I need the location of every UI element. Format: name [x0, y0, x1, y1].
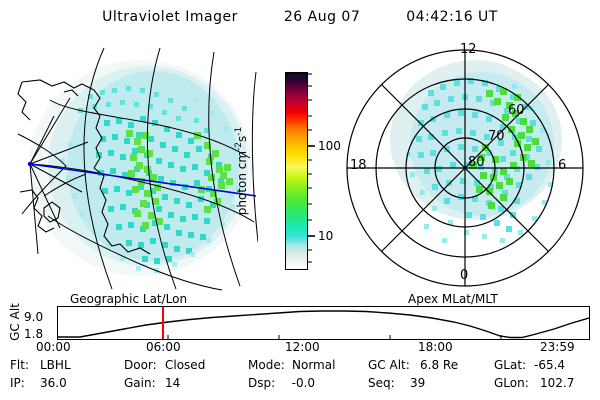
mlt-label-bottom: 0 — [460, 268, 468, 283]
lat-ring-label-70: 70 — [488, 129, 505, 144]
orbit-xtick-2: 12:00 — [285, 340, 320, 354]
polar-grid — [347, 50, 583, 286]
status-row-2: IP: 36.0 Gain: 14 Dsp: -0.0 Seq: 39 GLon… — [0, 376, 600, 393]
orbit-ytick-high: 9.0 — [24, 310, 43, 324]
orbit-xtick-3: 18:00 — [418, 340, 453, 354]
status-door-value: Closed — [165, 358, 205, 372]
status-ip-value: 36.0 — [40, 376, 67, 390]
observation-time: 04:42:16 UT — [406, 9, 498, 25]
status-gcalt-value: 6.8 Re — [420, 358, 458, 372]
status-dsp-value: -0.0 — [284, 376, 315, 390]
orbit-ytick-low: 1.8 — [24, 327, 43, 341]
colorbar-label-mid: s — [235, 136, 249, 142]
status-seq-value: 39 — [410, 376, 425, 390]
status-seq-label: Seq: — [368, 376, 395, 390]
colorbar-label-main: photon cm — [235, 151, 249, 215]
orbit-xtick-1: 06:00 — [146, 340, 181, 354]
colorbar-label-exp1: -2 — [234, 142, 244, 151]
orbit-xtick-4: 23:59 — [540, 340, 575, 354]
status-gain-value: 14 — [165, 376, 180, 390]
uv-imager-display: Ultraviolet Imager 26 Aug 07 04:42:16 UT — [0, 0, 600, 400]
current-time-marker — [162, 307, 164, 339]
header-bar: Ultraviolet Imager 26 Aug 07 04:42:16 UT — [0, 6, 600, 28]
lat-ring-label-80: 80 — [468, 155, 485, 170]
status-gcalt-label: GC Alt: — [368, 358, 410, 372]
status-block: Flt: LBHL Door: Closed Mode: Normal GC A… — [0, 358, 600, 398]
colorbar-axis-label: photon cm-2s-1 — [234, 96, 249, 246]
status-row-1: Flt: LBHL Door: Closed Mode: Normal GC A… — [0, 358, 600, 375]
status-glat-value: -65.4 — [534, 358, 565, 372]
orbit-altitude-panel: GC Alt 9.0 1.8 00:00 06:00 12:00 18:00 — [0, 292, 600, 352]
status-door-label: Door: — [124, 358, 157, 372]
subsolar-marker — [28, 162, 32, 166]
geographic-image-panel — [8, 46, 258, 291]
status-gain-label: Gain: — [124, 376, 156, 390]
status-flt-value: LBHL — [40, 358, 71, 372]
observation-date: 26 Aug 07 — [284, 9, 360, 25]
apex-aurora-emission — [390, 60, 562, 243]
orbit-xtick-0: 00:00 — [36, 340, 71, 354]
instrument-title: Ultraviolet Imager — [102, 9, 238, 25]
orbit-plot-box — [57, 306, 590, 340]
status-dsp-label: Dsp: — [248, 376, 275, 390]
colorbar-label-exp2: -1 — [234, 127, 244, 136]
orbit-track-svg — [58, 307, 589, 339]
apex-polar-panel: 60 70 80 12 6 0 18 — [336, 44, 594, 292]
status-glon-value: 102.7 — [540, 376, 574, 390]
mlt-label-top: 12 — [460, 42, 477, 57]
mlt-label-right: 6 — [558, 158, 566, 173]
status-mode-value: Normal — [292, 358, 335, 372]
status-flt-label: Flt: — [10, 358, 29, 372]
colorbar-tick-low: 10 — [318, 229, 333, 243]
polar-plot-svg: 60 70 80 — [336, 44, 594, 292]
lat-ring-label-60: 60 — [508, 103, 525, 118]
status-ip-label: IP: — [10, 376, 25, 390]
status-glon-label: GLon: — [494, 376, 529, 390]
status-mode-label: Mode: — [248, 358, 285, 372]
mlt-label-left: 18 — [350, 158, 367, 173]
geographic-plot-svg — [8, 46, 258, 291]
orbit-ylabel: GC Alt — [8, 302, 22, 342]
status-glat-label: GLat: — [494, 358, 526, 372]
